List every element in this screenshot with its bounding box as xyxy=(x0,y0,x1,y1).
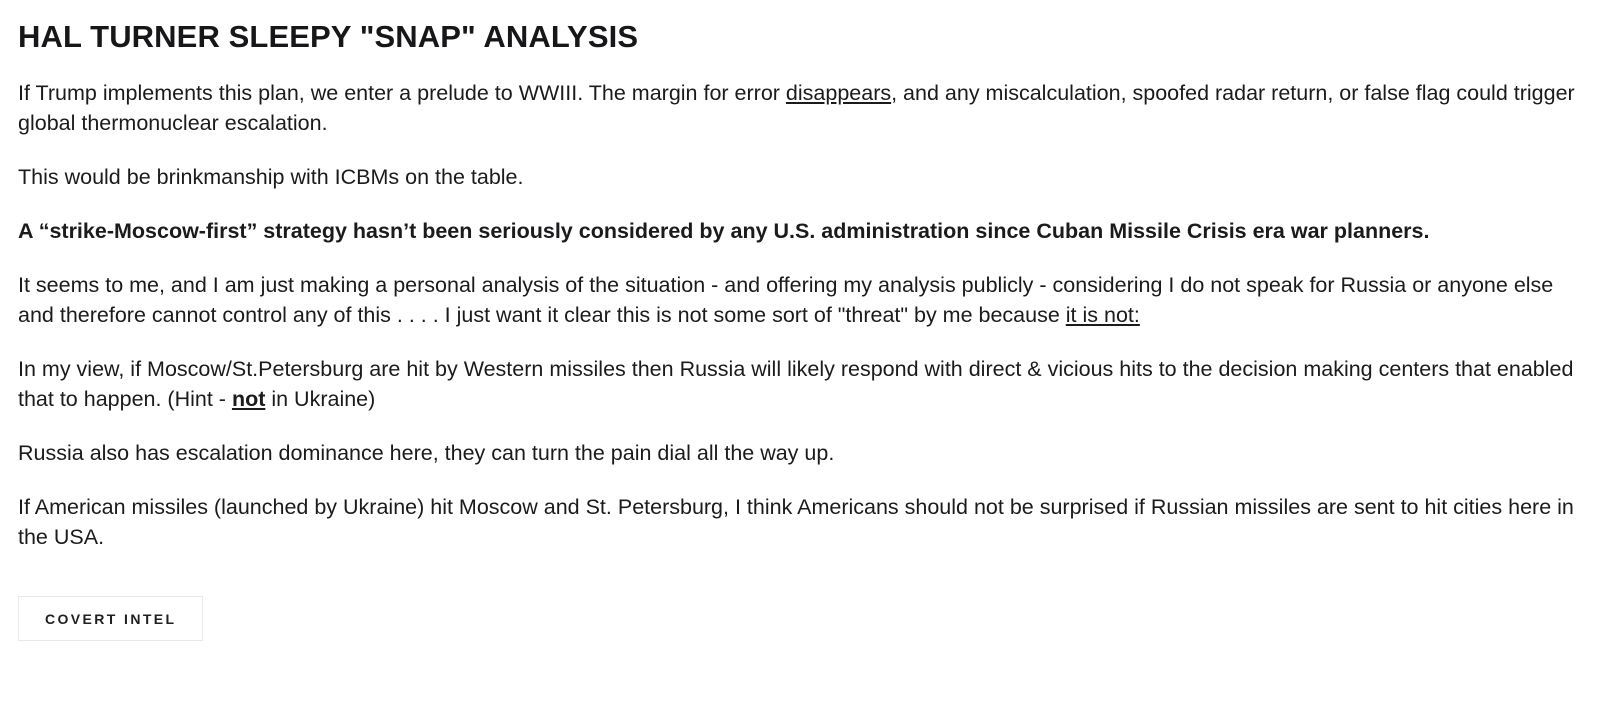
article-body: HAL TURNER SLEEPY "SNAP" ANALYSIS If Tru… xyxy=(0,0,1600,552)
paragraph-strike-moscow-first: A “strike-Moscow-first” strategy hasn’t … xyxy=(18,216,1582,246)
paragraph-moscow-stpetersburg: In my view, if Moscow/St.Petersburg are … xyxy=(18,354,1582,414)
emphasis-not: not xyxy=(232,387,265,411)
paragraph-american-missiles: If American missiles (launched by Ukrain… xyxy=(18,492,1582,552)
paragraph-prelude-text-before: If Trump implements this plan, we enter … xyxy=(18,81,786,105)
paragraph-personal-analysis: It seems to me, and I am just making a p… xyxy=(18,270,1582,330)
paragraph-moscow-text-after: in Ukraine) xyxy=(265,387,375,411)
covert-intel-button[interactable]: COVERT INTEL xyxy=(18,596,203,641)
emphasis-disappears: disappears xyxy=(786,81,891,105)
emphasis-it-is-not: it is not: xyxy=(1066,303,1140,327)
paragraph-escalation-dominance: Russia also has escalation dominance her… xyxy=(18,438,1582,468)
page-title: HAL TURNER SLEEPY "SNAP" ANALYSIS xyxy=(18,18,1582,56)
article-actions: COVERT INTEL xyxy=(0,576,1600,641)
paragraph-brinkmanship: This would be brinkmanship with ICBMs on… xyxy=(18,162,1582,192)
paragraph-prelude-wwiii: If Trump implements this plan, we enter … xyxy=(18,78,1582,138)
paragraph-personal-analysis-text: It seems to me, and I am just making a p… xyxy=(18,273,1553,327)
